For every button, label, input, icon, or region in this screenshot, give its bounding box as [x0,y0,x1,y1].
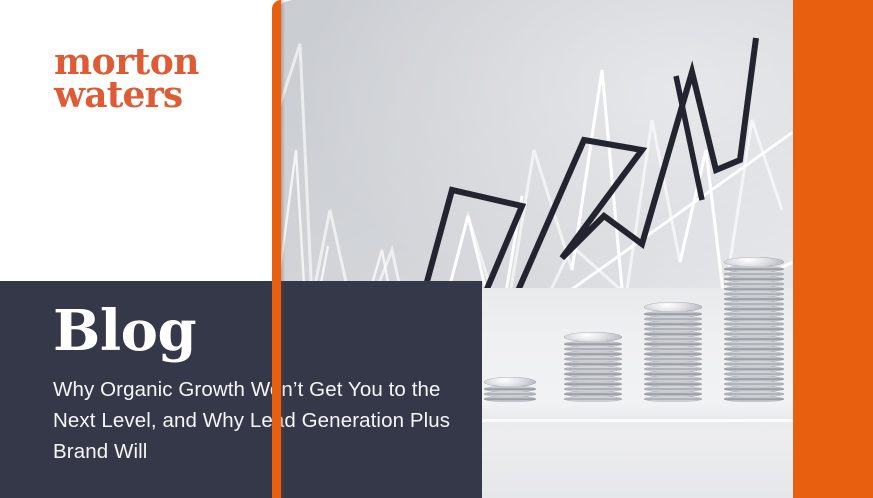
blog-share-card: morton waters [0,0,873,498]
panel-headline: Why Organic Growth Won’t Get You to the … [53,374,453,467]
coin-stack-4 [724,258,784,402]
coin [644,396,702,402]
accent-bar-right [793,0,873,498]
coin [724,396,784,402]
logo-line-waters: waters [54,79,254,112]
coin [484,396,536,402]
coin-stack-2 [564,333,622,402]
photo-edge-shadow [281,0,285,498]
photo-accent-edge [272,0,281,498]
coin-stack-3 [644,303,702,402]
panel-category-title: Blog [53,303,196,359]
brand-logo[interactable]: morton waters [54,46,254,112]
coin-stack-1 [484,378,536,402]
coin [564,396,622,402]
blog-text-panel: Blog Why Organic Growth Won’t Get You to… [0,281,482,498]
